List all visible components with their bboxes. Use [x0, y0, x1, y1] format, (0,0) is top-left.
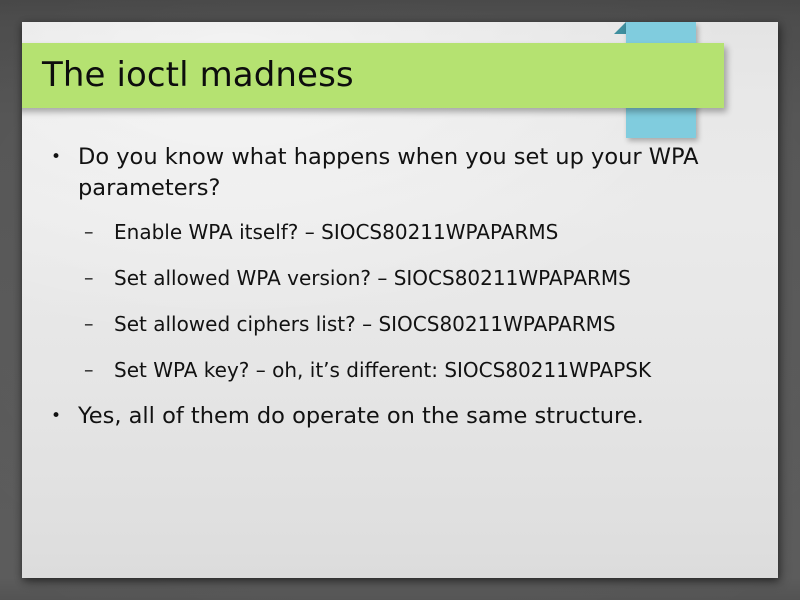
bullet-level1-conclusion: • Yes, all of them do operate on the sam…: [22, 401, 778, 432]
bullet-dash-icon: –: [84, 263, 114, 293]
bullet-level2-wpa-key: – Set WPA key? – oh, it’s different: SIO…: [22, 355, 778, 385]
bullet-text: Yes, all of them do operate on the same …: [78, 401, 740, 432]
presentation-stage: The ioctl madness • Do you know what hap…: [0, 0, 800, 600]
bullet-dash-icon: –: [84, 217, 114, 247]
blue-accent-fold-icon: [614, 22, 626, 34]
bullet-text: Set allowed ciphers list? – SIOCS80211WP…: [114, 309, 778, 339]
bullet-text: Do you know what happens when you set up…: [78, 142, 740, 204]
bullet-dot-icon: •: [48, 401, 78, 432]
bullet-dot-icon: •: [48, 142, 78, 173]
bullet-text: Set WPA key? – oh, it’s different: SIOCS…: [114, 355, 778, 385]
bullet-level2-enable-wpa: – Enable WPA itself? – SIOCS80211WPAPARM…: [22, 217, 778, 247]
sub-bullet-list: – Enable WPA itself? – SIOCS80211WPAPARM…: [22, 217, 778, 385]
bullet-level1-question: • Do you know what happens when you set …: [22, 142, 778, 204]
slide-title-text: The ioctl madness: [42, 58, 354, 94]
slide-title: The ioctl madness: [42, 43, 702, 108]
slide-body: • Do you know what happens when you set …: [22, 142, 778, 434]
bullet-level2-ciphers-list: – Set allowed ciphers list? – SIOCS80211…: [22, 309, 778, 339]
bullet-level2-wpa-version: – Set allowed WPA version? – SIOCS80211W…: [22, 263, 778, 293]
slide-canvas: The ioctl madness • Do you know what hap…: [22, 22, 778, 578]
bullet-text: Enable WPA itself? – SIOCS80211WPAPARMS: [114, 217, 778, 247]
bullet-dash-icon: –: [84, 355, 114, 385]
bullet-text: Set allowed WPA version? – SIOCS80211WPA…: [114, 263, 778, 293]
bullet-dash-icon: –: [84, 309, 114, 339]
